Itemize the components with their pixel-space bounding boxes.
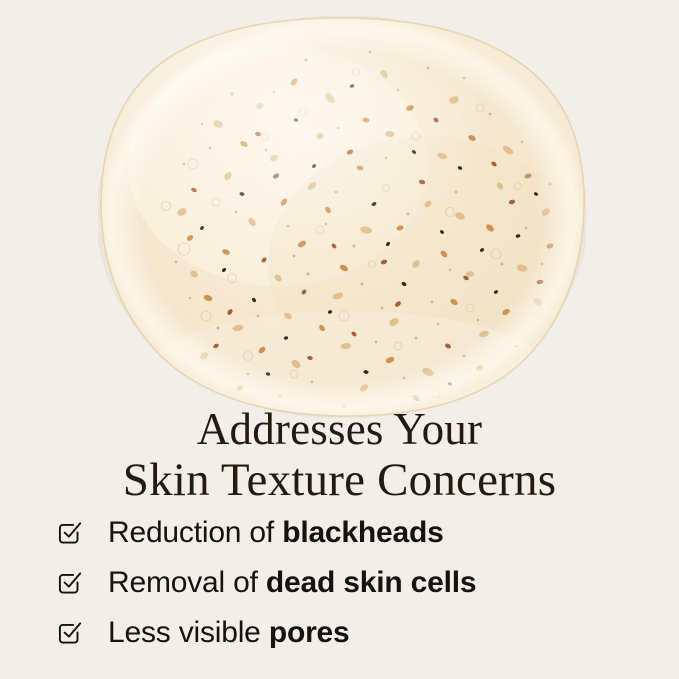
benefit-label: Less visible pores [108, 616, 350, 650]
checkbox-check-icon [57, 570, 83, 596]
headline-line-1: Addresses Your [0, 404, 679, 455]
benefit-highlight: pores [269, 616, 350, 649]
benefit-highlight: dead skin cells [266, 566, 476, 599]
blob-body [98, 16, 586, 418]
headline-line-2: Skin Texture Concerns [0, 455, 679, 506]
benefit-label: Reduction of blackheads [108, 516, 444, 550]
product-benefit-graphic: Addresses Your Skin Texture Concerns Red… [0, 0, 679, 679]
list-item: Reduction of blackheads [57, 508, 657, 558]
benefit-highlight: blackheads [282, 516, 443, 549]
checkbox-check-icon [57, 620, 83, 646]
benefit-prefix: Reduction of [108, 516, 282, 549]
blob-illustration [98, 16, 586, 418]
benefits-list: Reduction of blackheads Removal of dead … [57, 508, 657, 658]
product-texture-blob [98, 16, 586, 418]
page-title: Addresses Your Skin Texture Concerns [0, 404, 679, 506]
benefit-prefix: Removal of [108, 566, 266, 599]
benefit-label: Removal of dead skin cells [108, 566, 476, 600]
list-item: Less visible pores [57, 608, 657, 658]
list-item: Removal of dead skin cells [57, 558, 657, 608]
checkbox-check-icon [57, 520, 83, 546]
benefit-prefix: Less visible [108, 616, 269, 649]
